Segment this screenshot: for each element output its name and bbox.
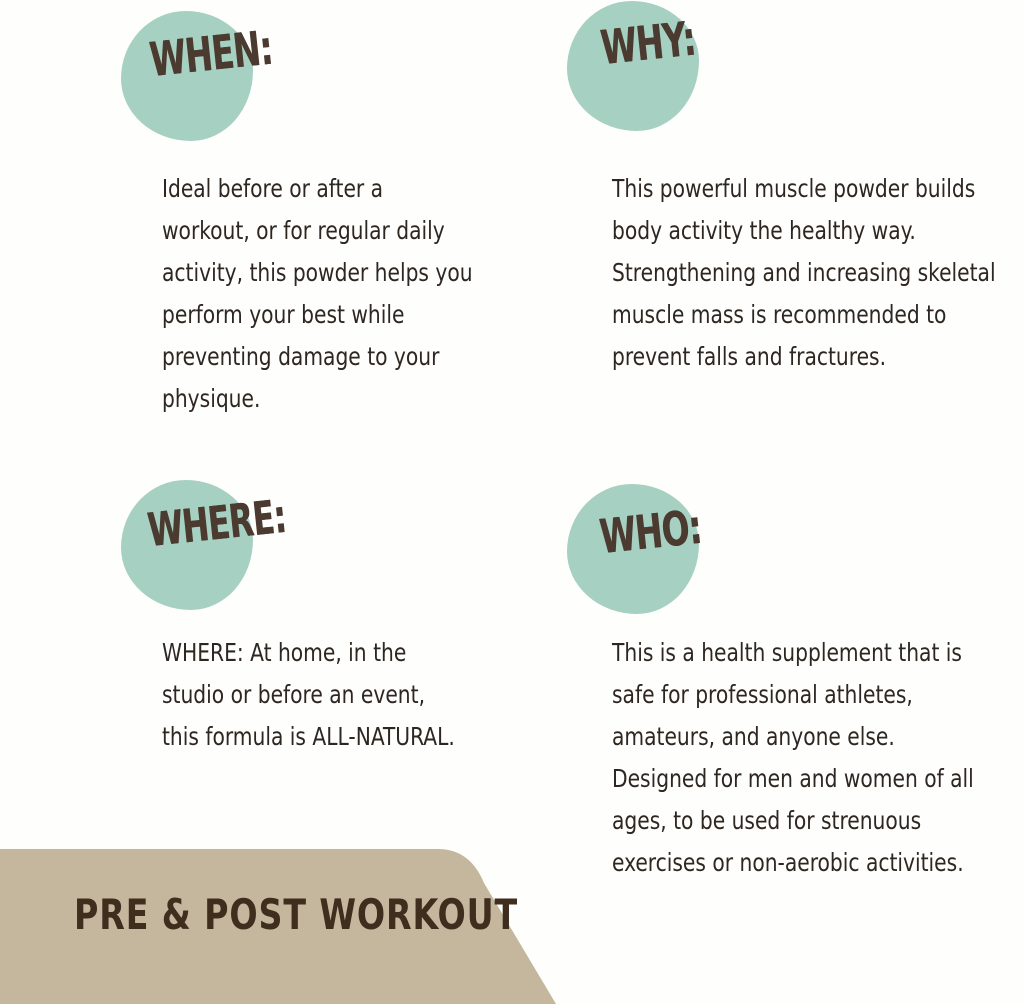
badge-who-label: WHO: [598, 504, 704, 562]
badge-when: WHEN: [121, 11, 253, 141]
section-when-body: Ideal before or after a workout, or for … [162, 168, 540, 420]
infographic-page: WHEN: Ideal before or after a workout, o… [0, 0, 1024, 1004]
section-who-body: This is a health supplement that is safe… [612, 632, 1024, 884]
bottom-banner: PRE & POST WORKOUT [0, 849, 560, 1004]
badge-who: WHO: [567, 484, 699, 614]
badge-why-label: WHY: [599, 16, 698, 73]
badge-when-label: WHEN: [148, 25, 275, 85]
section-where-body: WHERE: At home, in the studio or before … [162, 632, 540, 758]
badge-why: WHY: [567, 1, 699, 131]
banner-title: PRE & POST WORKOUT [74, 894, 518, 936]
section-why-body: This powerful muscle powder builds body … [612, 168, 1024, 378]
badge-where: WHERE: [121, 480, 253, 610]
badge-where-label: WHERE: [146, 494, 288, 554]
